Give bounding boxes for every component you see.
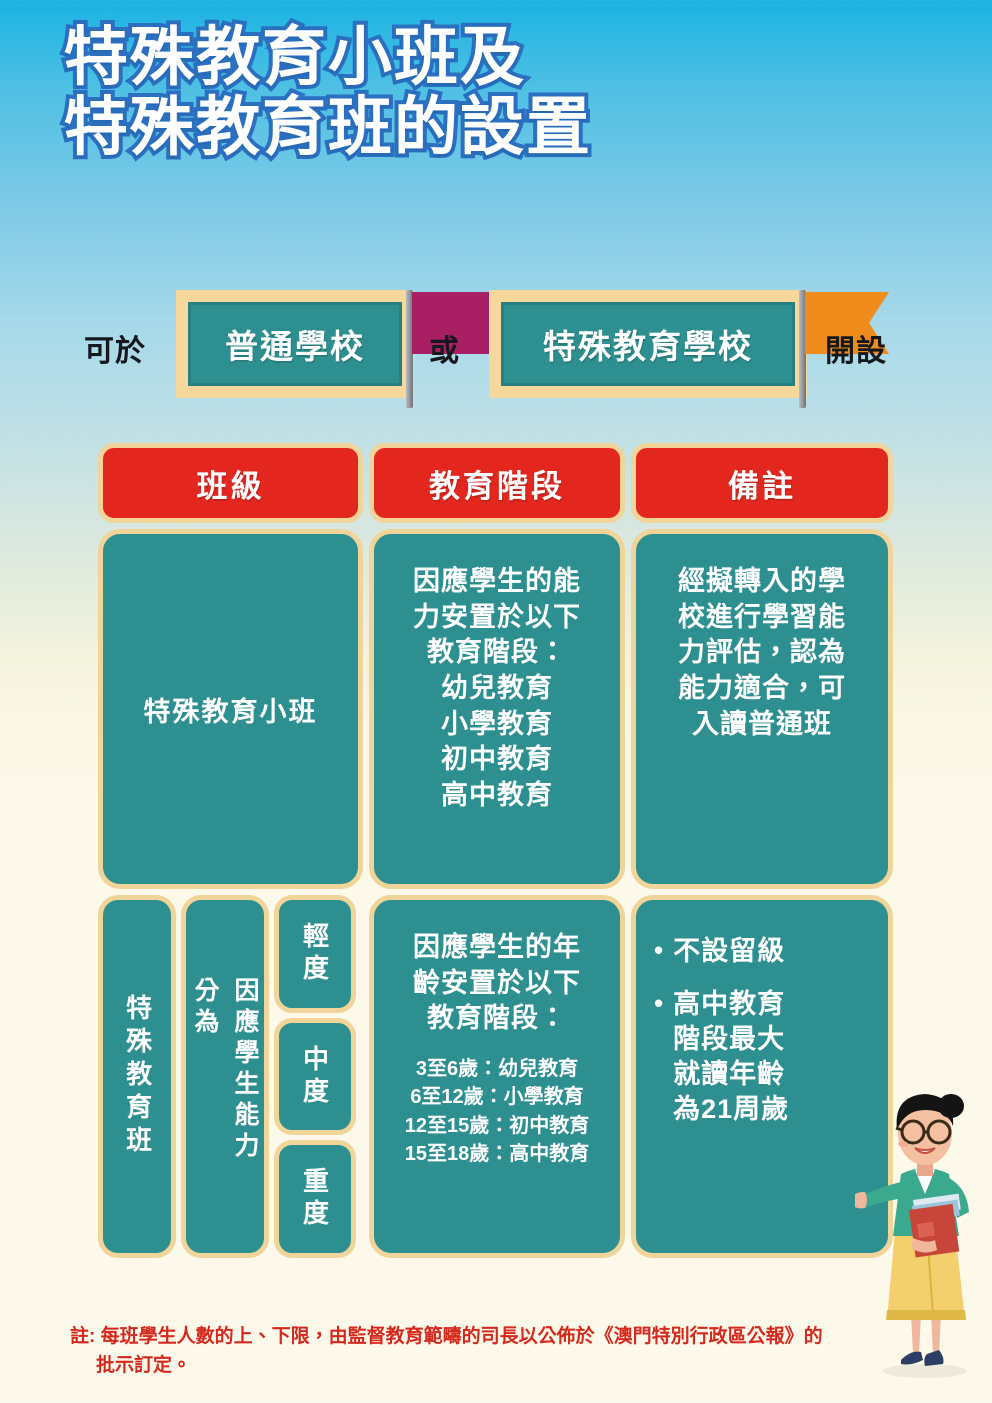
row2-severity-column: 輕度 中度 重度: [274, 895, 356, 1258]
row2-bullet-2-line-2: 階段最大: [673, 1022, 789, 1057]
row2-class-cell: 特殊教育班: [98, 895, 176, 1258]
school-type-row: 可於 普通學校 或: [0, 268, 992, 398]
row2-stage-intro-3: 教育階段：: [388, 1001, 606, 1037]
row1-remark-line-5: 入讀普通班: [650, 707, 874, 743]
row1-stage-intro-2: 力安置於以下: [388, 600, 606, 636]
table-row-small-class: 特殊教育小班 因應學生的能 力安置於以下 教育階段： 幼兒教育 小學教育 初中教…: [98, 529, 893, 889]
board-panel: 普通學校: [188, 302, 402, 386]
row2-bullet-2-line-4: 為21周歲: [673, 1092, 789, 1127]
row2-stage-intro-2: 齡安置於以下: [388, 966, 606, 1002]
row2-remark-cell: • 不設留級 • 高中教育 階段最大 就讀年齡 為21周歲: [631, 895, 893, 1258]
row2-age-line-1: 3至6歲：幼兒教育: [388, 1055, 606, 1083]
row1-remark-text: 經擬轉入的學 校進行學習能 力評估，認為 能力適合，可 入讀普通班: [636, 534, 888, 752]
board-label-special-education-school: 特殊教育學校: [543, 320, 753, 368]
school-row-prefix-label: 可於: [84, 326, 146, 370]
row2-stage-intro-1: 因應學生的年: [388, 930, 606, 966]
footnote-line-2: 批示訂定。: [70, 1351, 880, 1380]
row2-bullet-1-line-1: 不設留級: [673, 934, 785, 969]
table-header-remark-label: 備註: [728, 461, 796, 506]
table-header-class-label: 班級: [197, 461, 265, 506]
footnote-line-1: 註: 每班學生人數的上、下限，由監督教育範疇的司長以公佈於《澳門特別行政區公報》…: [70, 1322, 880, 1351]
row1-stage-text: 因應學生的能 力安置於以下 教育階段： 幼兒教育 小學教育 初中教育 高中教育: [374, 534, 620, 823]
row1-remark-line-1: 經擬轉入的學: [650, 564, 874, 600]
board-frame: 普通學校: [176, 290, 414, 398]
bullet-dot-icon: •: [654, 934, 664, 969]
row1-stage-intro-3: 教育階段：: [388, 635, 606, 671]
row1-stage-item-4: 高中教育: [388, 778, 606, 814]
row1-stage-intro-1: 因應學生的能: [388, 564, 606, 600]
severity-mild: 輕度: [274, 895, 356, 1013]
table-header-stage-label: 教育階段: [429, 461, 565, 506]
row2-grouping-cell: 因應學生能力分為: [181, 895, 269, 1258]
row1-remark-line-3: 力評估，認為: [650, 635, 874, 671]
row1-remark-cell: 經擬轉入的學 校進行學習能 力評估，認為 能力適合，可 入讀普通班: [631, 529, 893, 889]
row2-bullet-1: • 不設留級: [654, 934, 876, 969]
severity-severe-label: 重度: [297, 1167, 334, 1231]
page-title: 特殊教育小班及 特殊教育班的設置: [64, 22, 944, 163]
table-header-row: 班級 教育階段 備註: [98, 443, 893, 523]
severity-moderate: 中度: [274, 1018, 356, 1136]
row2-age-line-3: 12至15歲：初中教育: [388, 1112, 606, 1140]
row2-stage-text: 因應學生的年 齡安置於以下 教育階段： 3至6歲：幼兒教育 6至12歲：小學教育…: [374, 900, 620, 1178]
poster-root: 特殊教育小班及 特殊教育班的設置 可於 普通學校 或: [0, 0, 992, 1403]
row1-remark-line-4: 能力適合，可: [650, 671, 874, 707]
row1-stage-item-1: 幼兒教育: [388, 671, 606, 707]
row2-bullet-2-text: 高中教育 階段最大 就讀年齡 為21周歲: [673, 987, 789, 1127]
row2-age-list: 3至6歲：幼兒教育 6至12歲：小學教育 12至15歲：初中教育 15至18歲：…: [388, 1055, 606, 1169]
severity-severe: 重度: [274, 1140, 356, 1258]
bullet-dot-icon: •: [654, 987, 664, 1127]
board-frame: 特殊教育學校: [489, 290, 807, 398]
severity-moderate-label: 中度: [297, 1045, 334, 1109]
severity-mild-label: 輕度: [297, 922, 334, 986]
table-header-stage: 教育階段: [369, 443, 625, 523]
row2-age-line-2: 6至12歲：小學教育: [388, 1083, 606, 1111]
row2-class-label: 特殊教育班: [123, 994, 150, 1159]
row2-bullet-1-text: 不設留級: [673, 934, 785, 969]
row2-grouping-label: 因應學生能力分為: [185, 977, 265, 1177]
board-panel: 特殊教育學校: [501, 302, 795, 386]
settings-table: 班級 教育階段 備註 特殊教育小班 因應學生的能 力安置於以下 教育階段： 幼兒…: [98, 443, 893, 1258]
footnote: 註: 每班學生人數的上、下限，由監督教育範疇的司長以公佈於《澳門特別行政區公報》…: [70, 1322, 880, 1381]
table-header-class: 班級: [98, 443, 363, 523]
row2-bullet-2-line-3: 就讀年齡: [673, 1057, 789, 1092]
board-ordinary-school: 普通學校: [176, 290, 414, 398]
row2-class-group: 特殊教育班 因應學生能力分為 輕度 中度 重度: [98, 895, 363, 1258]
row1-stage-item-3: 初中教育: [388, 742, 606, 778]
row2-bullet-2-line-1: 高中教育: [673, 987, 789, 1022]
row1-class-cell: 特殊教育小班: [98, 529, 363, 889]
row2-stage-cell: 因應學生的年 齡安置於以下 教育階段： 3至6歲：幼兒教育 6至12歲：小學教育…: [369, 895, 625, 1258]
row2-age-line-4: 15至18歲：高中教育: [388, 1140, 606, 1168]
row2-remark-bullets: • 不設留級 • 高中教育 階段最大 就讀年齡 為21周歲: [636, 900, 888, 1155]
table-header-remark: 備註: [631, 443, 893, 523]
row1-class-label: 特殊教育小班: [144, 690, 318, 729]
row1-stage-item-2: 小學教育: [388, 707, 606, 743]
board-special-education-school: 特殊教育學校: [489, 290, 807, 398]
table-row-special-class: 特殊教育班 因應學生能力分為 輕度 中度 重度: [98, 895, 893, 1258]
school-row-suffix-label: 開設: [825, 326, 887, 370]
page-title-line-1: 特殊教育小班及: [64, 22, 944, 92]
board-label-ordinary-school: 普通學校: [225, 320, 365, 368]
page-title-line-2: 特殊教育班的設置: [64, 92, 944, 162]
row1-stage-cell: 因應學生的能 力安置於以下 教育階段： 幼兒教育 小學教育 初中教育 高中教育: [369, 529, 625, 889]
school-row-middle-label: 或: [429, 326, 460, 370]
row1-remark-line-2: 校進行學習能: [650, 600, 874, 636]
row2-bullet-2: • 高中教育 階段最大 就讀年齡 為21周歲: [654, 987, 876, 1127]
